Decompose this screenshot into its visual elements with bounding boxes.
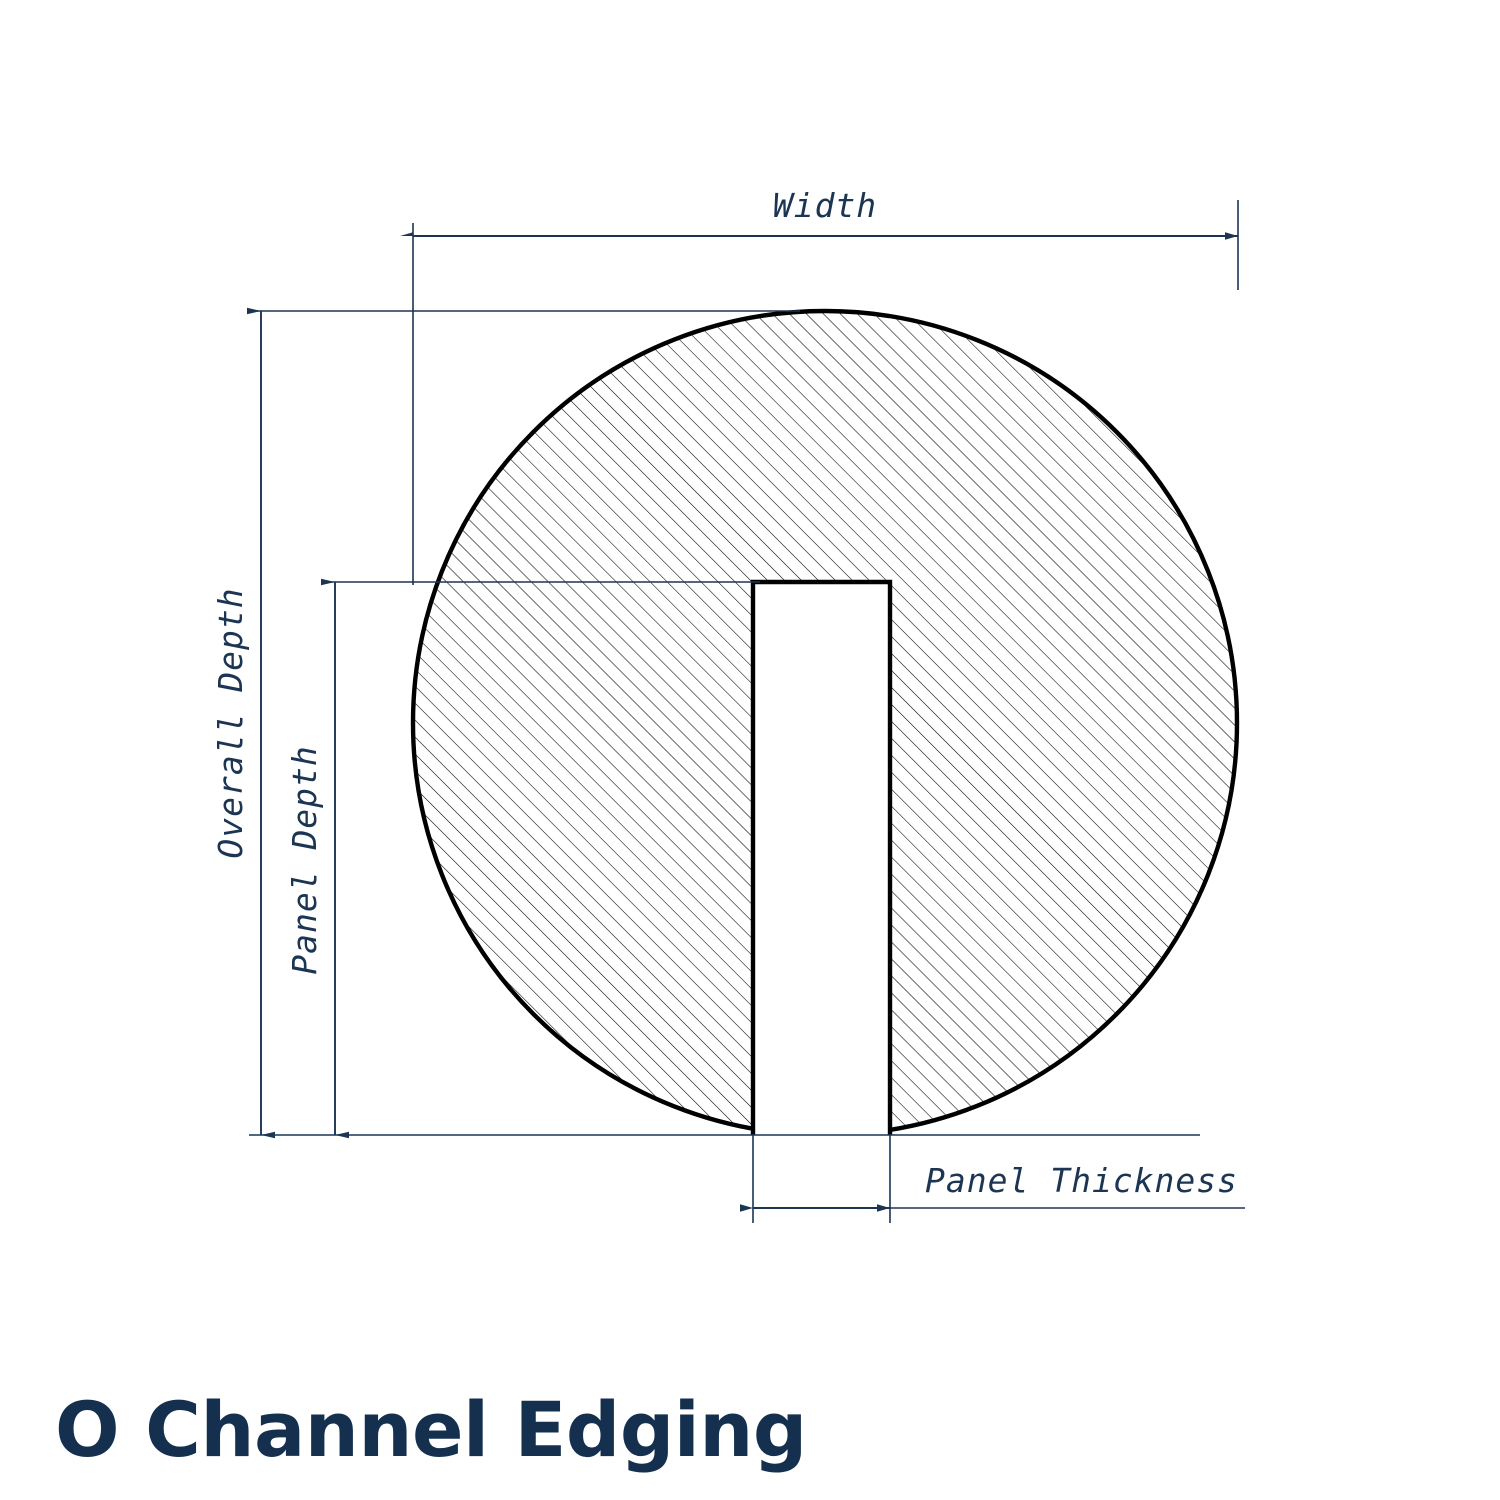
label-overall-depth: Overall Depth [211,587,250,858]
label-panel-thickness: Panel Thickness [925,1161,1238,1200]
drawing-canvas: Width Overall Depth Panel Depth Panel Th… [0,0,1500,1500]
channel-slot [753,582,890,1142]
label-panel-depth: Panel Depth [285,745,324,975]
label-width: Width [773,186,877,225]
cross-section-svg: Width Overall Depth Panel Depth Panel Th… [0,0,1500,1500]
slot-void [753,582,890,1142]
page-title: O Channel Edging [55,1385,807,1474]
